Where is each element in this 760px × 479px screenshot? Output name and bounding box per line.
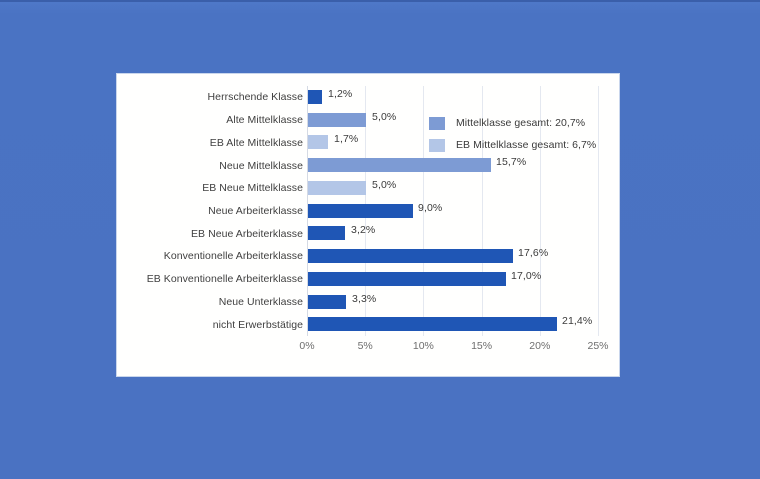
bar-eb-konventionelle-arbeiterklasse[interactable] [308, 272, 506, 286]
bar-value-eb-alte-mittelklasse: 1,7% [334, 133, 358, 145]
bar-row: 15,7% [307, 154, 598, 177]
category-row: Neue Mittelklasse [117, 154, 303, 177]
gridline-25 [598, 86, 599, 336]
category-label-eb-neue-arbeiterklasse: EB Neue Arbeiterklasse [117, 228, 303, 240]
bar-eb-neue-mittelklasse[interactable] [308, 181, 366, 195]
bar-herrschende-klasse[interactable] [308, 90, 322, 104]
bar-value-nicht-erwerbstaetige: 21,4% [562, 315, 592, 327]
bar-value-eb-neue-mittelklasse: 5,0% [372, 179, 396, 191]
category-row: EB Neue Arbeiterklasse [117, 222, 303, 245]
bar-row: 3,2% [307, 222, 598, 245]
bar-row: 17,0% [307, 268, 598, 291]
legend-item-eb-mittelklasse-gesamt[interactable]: EB Mittelklasse gesamt: 6,7% [429, 134, 596, 156]
xtick-15: 15% [471, 340, 492, 352]
bar-value-neue-mittelklasse: 15,7% [496, 156, 526, 168]
bar-nicht-erwerbstaetige[interactable] [308, 317, 557, 331]
category-label-eb-neue-mittelklasse: EB Neue Mittelklasse [117, 182, 303, 194]
category-label-konventionelle-arbeiterklasse: Konventionelle Arbeiterklasse [117, 250, 303, 262]
bar-row: 3,3% [307, 291, 598, 314]
category-label-neue-mittelklasse: Neue Mittelklasse [117, 160, 303, 172]
category-row: Alte Mittelklasse [117, 109, 303, 132]
category-row: EB Neue Mittelklasse [117, 177, 303, 200]
category-row: EB Alte Mittelklasse [117, 131, 303, 154]
bar-eb-alte-mittelklasse[interactable] [308, 135, 328, 149]
bar-konventionelle-arbeiterklasse[interactable] [308, 249, 513, 263]
slide-background: Herrschende Klasse Alte Mittelklasse EB … [0, 0, 760, 479]
bar-neue-mittelklasse[interactable] [308, 158, 491, 172]
xtick-20: 20% [529, 340, 550, 352]
bar-value-neue-unterklasse: 3,3% [352, 293, 376, 305]
legend-label: EB Mittelklasse gesamt: 6,7% [456, 139, 596, 151]
category-row: Konventionelle Arbeiterklasse [117, 245, 303, 268]
category-axis: Herrschende Klasse Alte Mittelklasse EB … [117, 86, 303, 336]
bar-neue-arbeiterklasse[interactable] [308, 204, 413, 218]
chart-legend: Mittelklasse gesamt: 20,7% EB Mittelklas… [429, 112, 596, 156]
category-label-eb-konventionelle-arbeiterklasse: EB Konventionelle Arbeiterklasse [117, 273, 303, 285]
legend-label: Mittelklasse gesamt: 20,7% [456, 117, 585, 129]
category-row: nicht Erwerbstätige [117, 313, 303, 336]
category-label-neue-arbeiterklasse: Neue Arbeiterklasse [117, 205, 303, 217]
category-label-nicht-erwerbstaetige: nicht Erwerbstätige [117, 319, 303, 331]
category-row: Neue Arbeiterklasse [117, 200, 303, 223]
category-label-alte-mittelklasse: Alte Mittelklasse [117, 114, 303, 126]
bar-row: 17,6% [307, 245, 598, 268]
value-axis: 0% 5% 10% 15% 20% 25% [307, 340, 598, 360]
legend-item-mittelklasse-gesamt[interactable]: Mittelklasse gesamt: 20,7% [429, 112, 596, 134]
bar-value-eb-neue-arbeiterklasse: 3,2% [351, 224, 375, 236]
legend-swatch-icon [429, 139, 445, 152]
bar-row: 21,4% [307, 313, 598, 336]
bar-row: 5,0% [307, 177, 598, 200]
bar-row: 1,2% [307, 86, 598, 109]
category-row: Neue Unterklasse [117, 291, 303, 314]
bar-row: 9,0% [307, 200, 598, 223]
bar-value-konventionelle-arbeiterklasse: 17,6% [518, 247, 548, 259]
category-label-eb-alte-mittelklasse: EB Alte Mittelklasse [117, 137, 303, 149]
xtick-5: 5% [358, 340, 373, 352]
bar-value-herrschende-klasse: 1,2% [328, 88, 352, 100]
bar-value-eb-konventionelle-arbeiterklasse: 17,0% [511, 270, 541, 282]
chart-panel: Herrschende Klasse Alte Mittelklasse EB … [116, 73, 620, 377]
category-label-neue-unterklasse: Neue Unterklasse [117, 296, 303, 308]
category-row: Herrschende Klasse [117, 86, 303, 109]
category-row: EB Konventionelle Arbeiterklasse [117, 268, 303, 291]
legend-swatch-icon [429, 117, 445, 130]
bar-value-alte-mittelklasse: 5,0% [372, 111, 396, 123]
bar-alte-mittelklasse[interactable] [308, 113, 366, 127]
bar-eb-neue-arbeiterklasse[interactable] [308, 226, 345, 240]
xtick-0: 0% [299, 340, 314, 352]
category-label-herrschende-klasse: Herrschende Klasse [117, 91, 303, 103]
bar-value-neue-arbeiterklasse: 9,0% [418, 202, 442, 214]
bar-neue-unterklasse[interactable] [308, 295, 346, 309]
xtick-10: 10% [413, 340, 434, 352]
xtick-25: 25% [587, 340, 608, 352]
